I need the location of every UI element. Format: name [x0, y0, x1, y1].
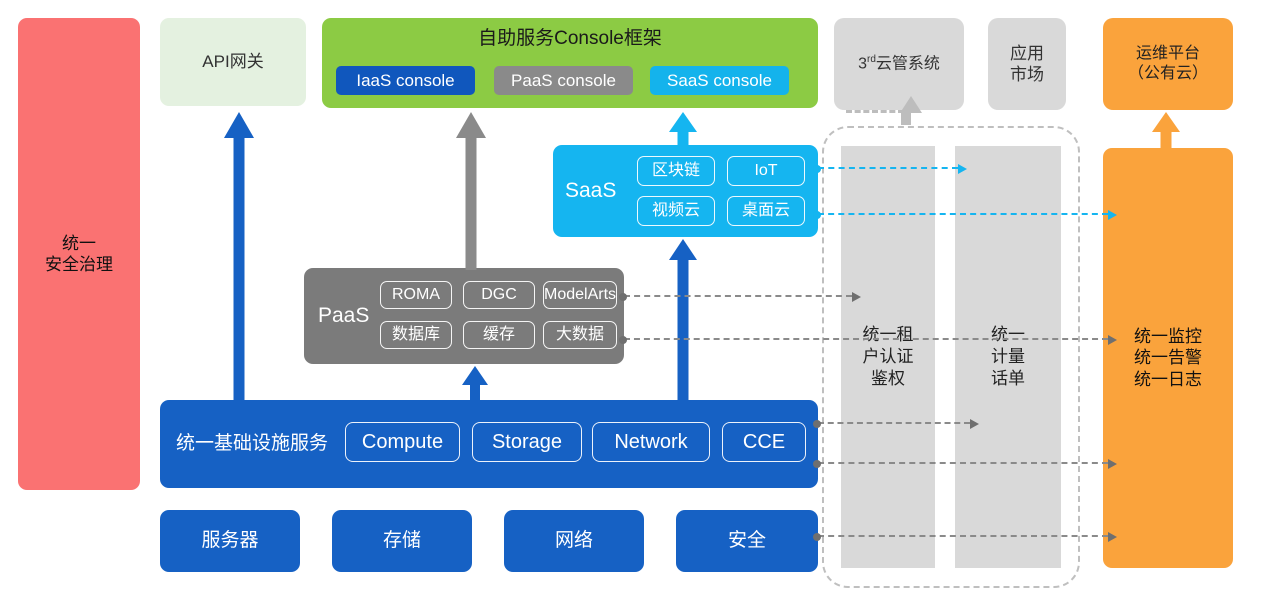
- hardware-server-label: 服务器: [201, 529, 258, 553]
- paas-chip-roma[interactable]: ROMA: [380, 281, 452, 309]
- saas-chip-blockchain[interactable]: 区块链: [637, 156, 715, 186]
- paas-console-badge[interactable]: PaaS console: [494, 66, 633, 95]
- infra-chip-network-label: Network: [614, 430, 687, 455]
- paas-chip-cache[interactable]: 缓存: [463, 321, 535, 349]
- paas-chip-dgc[interactable]: DGC: [463, 281, 535, 309]
- arrow-infra-to-saas: [669, 239, 697, 401]
- paas-chip-bigdata-label: 大数据: [556, 325, 604, 345]
- saas-layer-name: SaaS: [565, 145, 616, 237]
- infra-chip-network[interactable]: Network: [592, 422, 710, 462]
- saas-chip-desktop-cloud-label: 桌面云: [742, 201, 790, 221]
- third-party-superscript: rd: [867, 54, 876, 65]
- app-market-label: 应用 市场: [1010, 43, 1044, 86]
- dashed-saas-to-auth: [818, 167, 958, 169]
- dashed-infra-to-monitoring: [818, 462, 1108, 464]
- third-party-cloud-management-box: 3rd云管系统: [834, 18, 964, 110]
- dashed-hardware-to-monitoring: [818, 535, 1108, 537]
- api-gateway-box: API网关: [160, 18, 306, 106]
- saas-chip-iot-label: IoT: [754, 161, 777, 181]
- saas-layer: SaaS 区块链 IoT 视频云 桌面云: [553, 145, 818, 237]
- infra-bar-name: 统一基础设施服务: [176, 400, 328, 488]
- hardware-network-label: 网络: [555, 529, 593, 553]
- paas-layer-name: PaaS: [318, 268, 369, 364]
- infra-chip-cce[interactable]: CCE: [722, 422, 806, 462]
- paas-chip-cache-label: 缓存: [483, 325, 515, 345]
- unified-monitoring-label: 统一监控 统一告警 统一日志: [1134, 326, 1202, 390]
- unified-metering-billing-label: 统一 计量 话单: [991, 324, 1025, 390]
- api-gateway-label: API网关: [202, 51, 263, 72]
- iaas-console-badge[interactable]: IaaS console: [336, 66, 475, 95]
- paas-chip-database[interactable]: 数据库: [380, 321, 452, 349]
- saas-chip-iot[interactable]: IoT: [727, 156, 805, 186]
- saas-chip-video-cloud[interactable]: 视频云: [637, 196, 715, 226]
- console-frame-title: 自助服务Console框架: [322, 27, 818, 51]
- unified-metering-billing-column: 统一 计量 话单: [955, 146, 1061, 568]
- dashed-paas-to-auth: [624, 295, 852, 297]
- iaas-console-label: IaaS console: [356, 70, 454, 91]
- paas-chip-modelarts-label: ModelArts: [544, 285, 616, 305]
- ops-platform-label: 运维平台 （公有云）: [1128, 44, 1208, 84]
- infra-chip-cce-label: CCE: [743, 430, 785, 455]
- hardware-box-server: 服务器: [160, 510, 300, 572]
- paas-chip-database-label: 数据库: [392, 325, 440, 345]
- arrow-infra-to-api-gateway: [224, 112, 254, 402]
- dashed-infra-to-billing: [818, 422, 970, 424]
- hardware-security-label: 安全: [728, 529, 766, 553]
- paas-chip-roma-label: ROMA: [392, 285, 440, 305]
- arrow-to-ops-platform: [1152, 112, 1180, 148]
- unified-infrastructure-bar: 统一基础设施服务 Compute Storage Network CCE: [160, 400, 818, 488]
- saas-chip-blockchain-label: 区块链: [652, 161, 700, 181]
- hardware-box-storage: 存储: [332, 510, 472, 572]
- paas-console-label: PaaS console: [511, 70, 616, 91]
- saas-console-label: SaaS console: [667, 70, 772, 91]
- security-governance-panel: 统一 安全治理: [18, 18, 140, 490]
- third-party-cloud-label: 3rd云管系统: [858, 54, 940, 74]
- infra-chip-storage[interactable]: Storage: [472, 422, 582, 462]
- architecture-diagram: 统一 安全治理 API网关 自助服务Console框架 IaaS console…: [0, 0, 1265, 605]
- unified-tenant-auth-label: 统一租 户认证 鉴权: [863, 324, 914, 390]
- ops-platform-box: 运维平台 （公有云）: [1103, 18, 1233, 110]
- paas-chip-dgc-label: DGC: [481, 285, 517, 305]
- hardware-storage-label: 存储: [383, 529, 421, 553]
- arrow-infra-to-paas: [462, 366, 488, 402]
- arrow-paas-to-console: [456, 112, 486, 270]
- paas-layer: PaaS ROMA DGC ModelArts 数据库 缓存 大数据: [304, 268, 624, 364]
- arrow-saas-to-console: [669, 112, 697, 148]
- saas-console-badge[interactable]: SaaS console: [650, 66, 789, 95]
- arrow-shared-to-third-party-cloud: [846, 110, 904, 113]
- infra-chip-storage-label: Storage: [492, 430, 562, 455]
- dashed-saas-to-monitoring: [818, 213, 1108, 215]
- infra-chip-compute-label: Compute: [362, 430, 443, 455]
- hardware-box-security: 安全: [676, 510, 818, 572]
- saas-chip-desktop-cloud[interactable]: 桌面云: [727, 196, 805, 226]
- app-market-box: 应用 市场: [988, 18, 1066, 110]
- unified-monitoring-panel: 统一监控 统一告警 统一日志: [1103, 148, 1233, 568]
- saas-chip-video-cloud-label: 视频云: [652, 201, 700, 221]
- security-governance-label: 统一 安全治理: [45, 233, 113, 276]
- unified-tenant-auth-column: 统一租 户认证 鉴权: [841, 146, 935, 568]
- hardware-box-network: 网络: [504, 510, 644, 572]
- paas-chip-bigdata[interactable]: 大数据: [543, 321, 617, 349]
- infra-chip-compute[interactable]: Compute: [345, 422, 460, 462]
- paas-chip-modelarts[interactable]: ModelArts: [543, 281, 617, 309]
- self-service-console-frame: 自助服务Console框架 IaaS console PaaS console …: [322, 18, 818, 108]
- dashed-paas-to-monitoring: [624, 338, 1108, 340]
